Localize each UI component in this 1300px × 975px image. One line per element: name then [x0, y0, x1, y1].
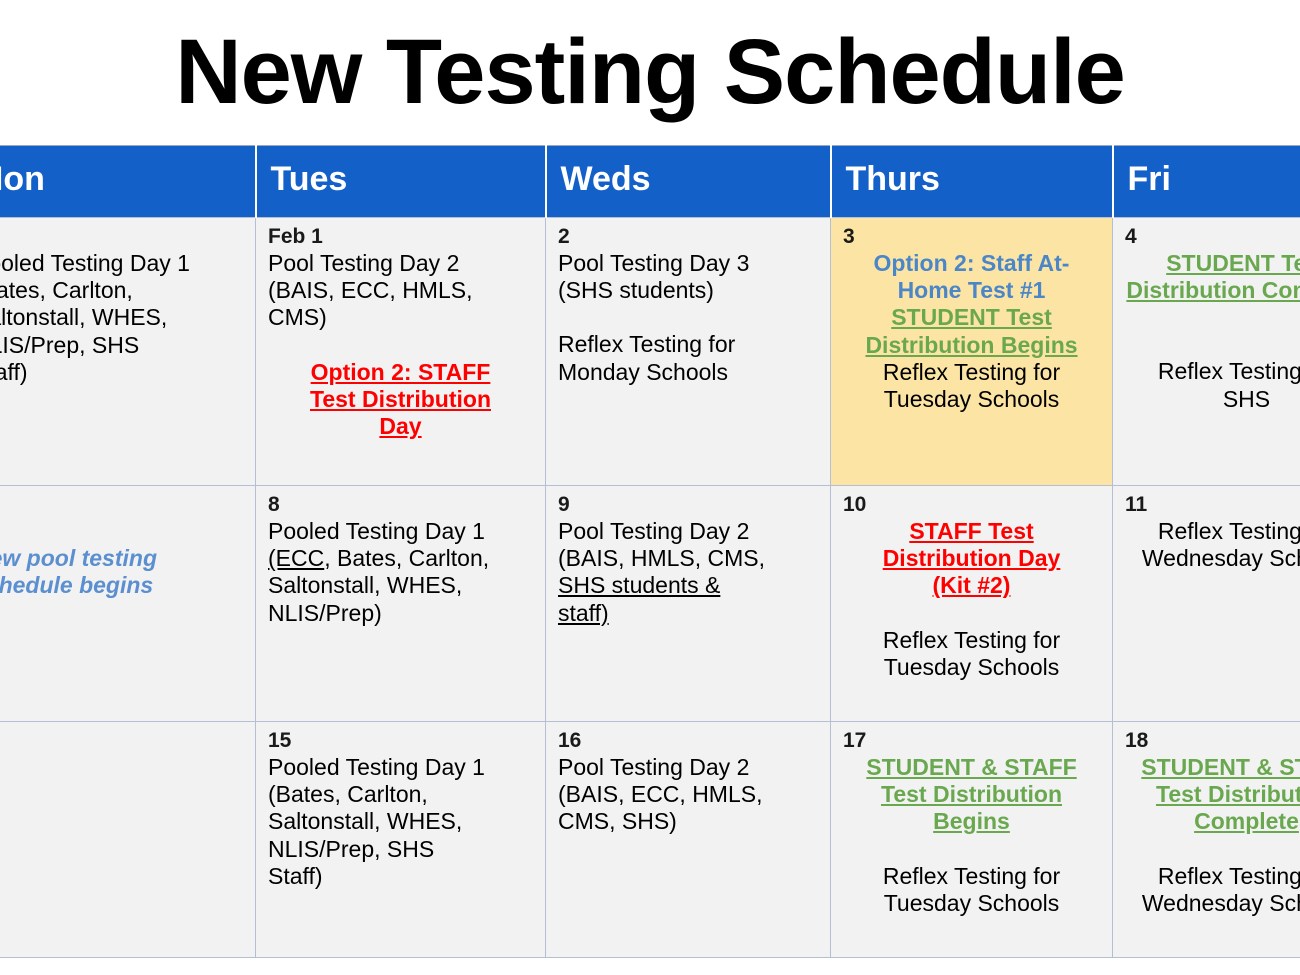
day-note-line: (BAIS, HMLS, CMS, [558, 545, 818, 572]
day-number: 14 [0, 728, 243, 753]
day-note-line: (Bates, Carlton, [0, 277, 243, 304]
day-note-line: Reflex Testing for [1125, 358, 1300, 385]
day-note-line: Option 2: STAFF [268, 359, 533, 386]
day-note-line: STUDENT & STAFF [1125, 754, 1300, 781]
day-note-line: Saltonstall, WHES, [268, 808, 533, 835]
day-note-line: Reflex Testing for [843, 863, 1100, 890]
day-note-line: staff) [558, 600, 818, 627]
calendar-day-cell[interactable]: 14 [0, 722, 256, 958]
day-number: 9 [558, 492, 818, 517]
day-content: Pooled Testing Day 1(ECC, Bates, Carlton… [268, 518, 533, 627]
day-note-line: Pooled Testing Day 1 [0, 250, 243, 277]
day-note-line: (Kit #2) [843, 572, 1100, 599]
day-note-line: SHS students & [558, 572, 818, 599]
calendar-week-row: 1Pooled Testing Day 1(Bates, Carlton,Sal… [0, 218, 1300, 486]
weekday-header-fri: Fri [1113, 146, 1300, 218]
day-content: Pool Testing Day 3(SHS students)Reflex T… [558, 250, 818, 386]
day-note-line: Distribution Begins [843, 332, 1100, 359]
day-note-line: Pool Testing Day 2 [558, 754, 818, 781]
day-note-line: Pool Testing Day 2 [268, 250, 533, 277]
page-title: New Testing Schedule [0, 8, 1300, 136]
day-note-line: STUDENT Test [843, 304, 1100, 331]
day-content: New pool testingschedule begins [0, 518, 243, 599]
day-content: Pooled Testing Day 1(Bates, Carlton,Salt… [268, 754, 533, 890]
day-note-line: Test Distribution [843, 781, 1100, 808]
day-note-line: Tuesday Schools [843, 654, 1100, 681]
day-note-line: Staff) [0, 359, 243, 386]
day-note-line: Test Distribution [1125, 781, 1300, 808]
day-note-line: New pool testing [0, 545, 243, 572]
day-number: 18 [1125, 728, 1300, 753]
spacer [843, 836, 1100, 863]
day-note-line: NLIS/Prep) [268, 600, 533, 627]
day-note-line: STUDENT & STAFF [843, 754, 1100, 781]
day-number: 4 [1125, 224, 1300, 249]
calendar-container: MonTuesWedsThursFri 1Pooled Testing Day … [0, 145, 1300, 958]
day-note-line: Complete [1125, 808, 1300, 835]
day-note-line: Reflex Testing for [843, 627, 1100, 654]
spacer [0, 518, 243, 545]
day-note-line: Reflex Testing for [843, 359, 1100, 386]
spacer [1125, 304, 1300, 331]
calendar-day-cell[interactable]: 4STUDENT TestDistribution CompleteReflex… [1113, 218, 1300, 486]
day-note-line: (BAIS, ECC, HMLS, [268, 277, 533, 304]
day-content: Pool Testing Day 2(BAIS, HMLS, CMS,SHS s… [558, 518, 818, 627]
day-note-line: (Bates, Carlton, [268, 781, 533, 808]
weekday-header-mon: Mon [0, 146, 256, 218]
day-note-line: Tuesday Schools [843, 386, 1100, 413]
day-note-line: Home Test #1 [843, 277, 1100, 304]
day-content: Option 2: Staff At-Home Test #1STUDENT T… [843, 250, 1100, 413]
day-number: 3 [843, 224, 1100, 249]
calendar-day-cell[interactable]: 10STAFF TestDistribution Day(Kit #2)Refl… [831, 486, 1113, 722]
calendar-day-cell[interactable]: 11Reflex Testing forWednesday Schools [1113, 486, 1300, 722]
day-number: 16 [558, 728, 818, 753]
day-note-line: Saltonstall, WHES, [0, 304, 243, 331]
weekday-header-row: MonTuesWedsThursFri [0, 146, 1300, 218]
day-content: Pool Testing Day 2(BAIS, ECC, HMLS,CMS)O… [268, 250, 533, 440]
day-note-line: Reflex Testing for [1125, 518, 1300, 545]
day-note-line: Begins [843, 808, 1100, 835]
day-note-line: Distribution Complete [1125, 277, 1300, 304]
day-note-line: Pool Testing Day 3 [558, 250, 818, 277]
day-content: Reflex Testing forWednesday Schools [1125, 518, 1300, 572]
day-content: STUDENT & STAFFTest DistributionBeginsRe… [843, 754, 1100, 917]
day-note-line: Wednesday Schools [1125, 890, 1300, 917]
weekday-header-tues: Tues [256, 146, 546, 218]
calendar-day-cell[interactable]: 16Pool Testing Day 2(BAIS, ECC, HMLS,CMS… [546, 722, 831, 958]
day-content: STUDENT & STAFFTest DistributionComplete… [1125, 754, 1300, 917]
day-number: 8 [268, 492, 533, 517]
calendar-day-cell[interactable]: 17STUDENT & STAFFTest DistributionBegins… [831, 722, 1113, 958]
calendar-day-cell[interactable]: 8Pooled Testing Day 1(ECC, Bates, Carlto… [256, 486, 546, 722]
day-content: Pool Testing Day 2(BAIS, ECC, HMLS,CMS, … [558, 754, 818, 835]
calendar-day-cell[interactable]: 9Pool Testing Day 2(BAIS, HMLS, CMS,SHS … [546, 486, 831, 722]
table-header: MonTuesWedsThursFri [0, 146, 1300, 218]
day-content: STUDENT TestDistribution CompleteReflex … [1125, 250, 1300, 413]
day-note-line: STUDENT Test [1125, 250, 1300, 277]
day-number: 10 [843, 492, 1100, 517]
weekday-header-thurs: Thurs [831, 146, 1113, 218]
calendar-week-row: 1415Pooled Testing Day 1(Bates, Carlton,… [0, 722, 1300, 958]
day-note-line: Test Distribution [268, 386, 533, 413]
day-number: 2 [558, 224, 818, 249]
calendar-page: New Testing Schedule MonTuesWedsThursFri… [0, 0, 1300, 975]
day-note-line: Pooled Testing Day 1 [268, 754, 533, 781]
spacer [843, 600, 1100, 627]
day-note-line: NLIS/Prep, SHS [268, 836, 533, 863]
day-note-line: Pooled Testing Day 1 [268, 518, 533, 545]
day-note-line: Reflex Testing for [1125, 863, 1300, 890]
day-note-line: (BAIS, ECC, HMLS, [558, 781, 818, 808]
day-note-line: (ECC, Bates, Carlton, [268, 545, 533, 572]
day-note-line: CMS, SHS) [558, 808, 818, 835]
day-note-line: Monday Schools [558, 359, 818, 386]
day-number: 1 [0, 224, 243, 249]
spacer [268, 332, 533, 359]
spacer [558, 304, 818, 331]
day-note-line: Wednesday Schools [1125, 545, 1300, 572]
day-note-line: Tuesday Schools [843, 890, 1100, 917]
day-number: 15 [268, 728, 533, 753]
day-note-line: Distribution Day [843, 545, 1100, 572]
day-note-line: schedule begins [0, 572, 243, 599]
day-number: 11 [1125, 492, 1300, 517]
day-note-line: Saltonstall, WHES, [268, 572, 533, 599]
day-note-line: STAFF Test [843, 518, 1100, 545]
day-content: STAFF TestDistribution Day(Kit #2)Reflex… [843, 518, 1100, 681]
weekday-header-weds: Weds [546, 146, 831, 218]
underlined-fragment: (ECC [268, 545, 324, 571]
calendar-day-cell[interactable]: 2Pool Testing Day 3(SHS students)Reflex … [546, 218, 831, 486]
day-note-line: Pool Testing Day 2 [558, 518, 818, 545]
calendar-day-cell[interactable]: 1Pooled Testing Day 1(Bates, Carlton,Sal… [0, 218, 256, 486]
testing-schedule-table: MonTuesWedsThursFri 1Pooled Testing Day … [0, 145, 1300, 958]
day-note-line: Option 2: Staff At- [843, 250, 1100, 277]
day-number: 7 [0, 492, 243, 517]
day-note-line: Day [268, 413, 533, 440]
day-note-line: Reflex Testing for [558, 331, 818, 358]
table-body: 1Pooled Testing Day 1(Bates, Carlton,Sal… [0, 218, 1300, 958]
calendar-day-cell[interactable]: 18STUDENT & STAFFTest DistributionComple… [1113, 722, 1300, 958]
calendar-week-row: 7New pool testingschedule begins8Pooled … [0, 486, 1300, 722]
calendar-day-cell[interactable]: 15Pooled Testing Day 1(Bates, Carlton,Sa… [256, 722, 546, 958]
spacer [1125, 836, 1300, 863]
day-note-line: NLIS/Prep, SHS [0, 332, 243, 359]
day-number: Feb 1 [268, 224, 533, 249]
calendar-day-cell[interactable]: 7New pool testingschedule begins [0, 486, 256, 722]
spacer [1125, 331, 1300, 358]
day-note-line: CMS) [268, 304, 533, 331]
calendar-day-cell[interactable]: 3Option 2: Staff At-Home Test #1STUDENT … [831, 218, 1113, 486]
day-number: 17 [843, 728, 1100, 753]
day-content: Pooled Testing Day 1(Bates, Carlton,Salt… [0, 250, 243, 386]
calendar-day-cell[interactable]: Feb 1Pool Testing Day 2(BAIS, ECC, HMLS,… [256, 218, 546, 486]
day-note-line: Staff) [268, 863, 533, 890]
day-note-line: (SHS students) [558, 277, 818, 304]
day-note-line: SHS [1125, 386, 1300, 413]
